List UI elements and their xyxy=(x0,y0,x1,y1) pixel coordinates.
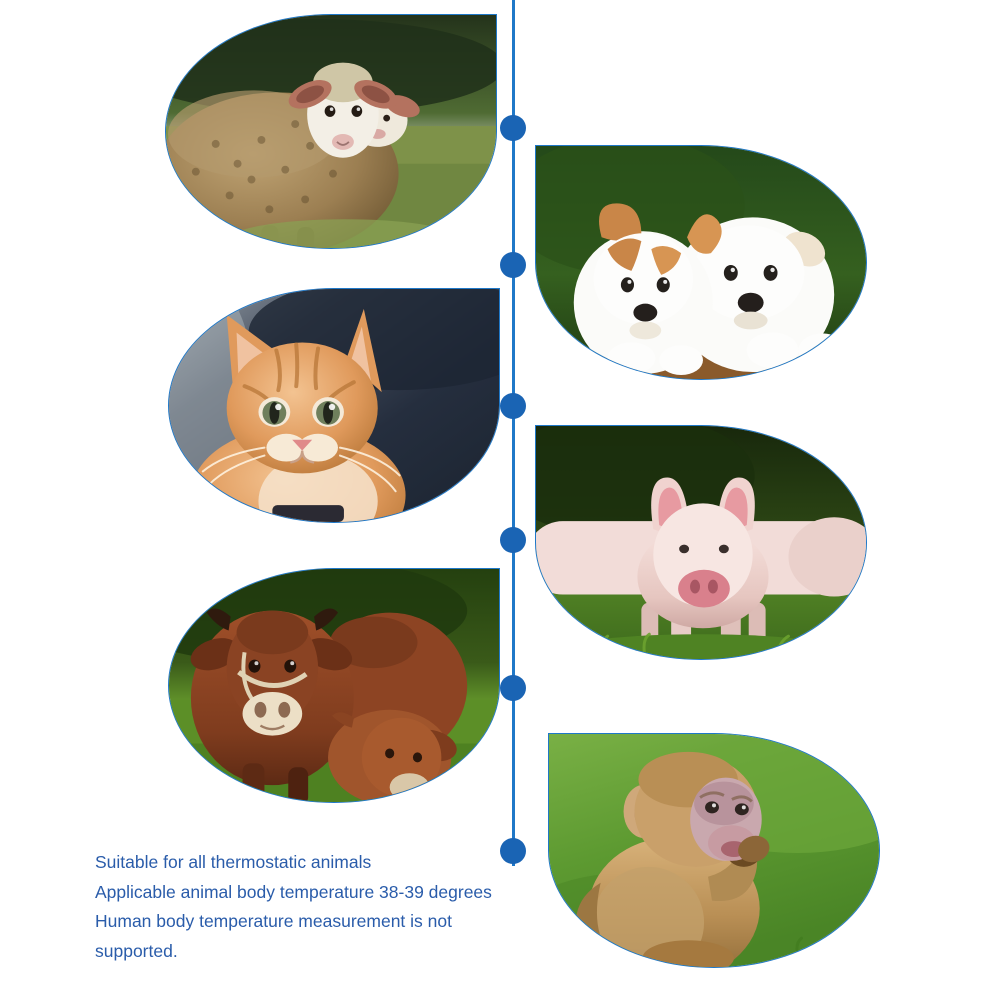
puppies-illustration xyxy=(536,146,866,379)
product-description: Suitable for all thermostatic animals Ap… xyxy=(95,848,515,966)
sheep-illustration xyxy=(166,15,496,248)
animal-photo-cat xyxy=(168,288,500,523)
timeline-dot-3 xyxy=(500,393,526,419)
animal-photo-monkey xyxy=(548,733,880,968)
animal-photo-cows xyxy=(168,568,500,803)
animal-thermometer-infographic: Suitable for all thermostatic animals Ap… xyxy=(0,0,1000,1000)
kitten-illustration xyxy=(169,289,499,522)
animal-photo-dogs xyxy=(535,145,867,380)
monkey-illustration xyxy=(549,734,879,967)
animal-photo-pig xyxy=(535,425,867,660)
timeline-dot-2 xyxy=(500,252,526,278)
piglet-illustration xyxy=(536,426,866,659)
timeline-dot-1 xyxy=(500,115,526,141)
cropped-top-text xyxy=(340,0,670,5)
animal-photo-sheep xyxy=(165,14,497,249)
timeline-dot-4 xyxy=(500,527,526,553)
cows-illustration xyxy=(169,569,499,802)
timeline-dot-5 xyxy=(500,675,526,701)
